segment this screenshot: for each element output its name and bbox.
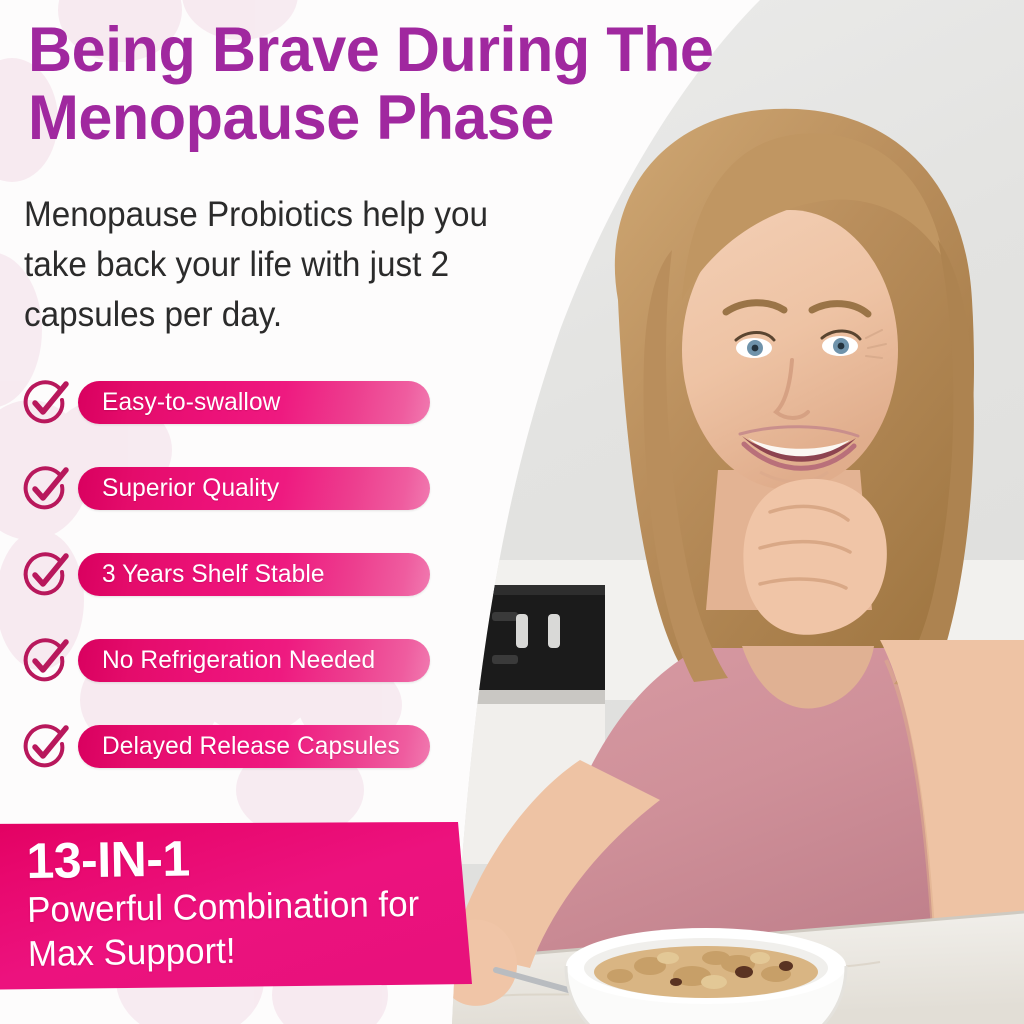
feature-list: Easy-to-swallow Superior Quality 3 xyxy=(0,381,460,811)
list-item[interactable]: Superior Quality xyxy=(0,467,460,553)
feature-pill[interactable]: Superior Quality xyxy=(78,467,430,510)
feature-label: Delayed Release Capsules xyxy=(102,732,400,761)
check-circle-icon xyxy=(20,551,72,601)
feature-pill[interactable]: 3 Years Shelf Stable xyxy=(78,553,430,596)
infographic-canvas: Being Brave During The Menopause Phase M… xyxy=(0,0,1024,1024)
page-title: Being Brave During The Menopause Phase xyxy=(28,16,804,152)
feature-label: 3 Years Shelf Stable xyxy=(102,560,325,589)
feature-pill[interactable]: Delayed Release Capsules xyxy=(78,725,430,768)
feature-pill[interactable]: Easy-to-swallow xyxy=(78,381,430,424)
feature-label: Superior Quality xyxy=(102,474,279,503)
list-item[interactable]: Easy-to-swallow xyxy=(0,381,460,467)
list-item[interactable]: No Refrigeration Needed xyxy=(0,639,460,725)
banner-headline: 13-IN-1 xyxy=(26,827,457,888)
feature-label: No Refrigeration Needed xyxy=(102,646,375,675)
list-item[interactable]: 3 Years Shelf Stable xyxy=(0,553,460,639)
list-item[interactable]: Delayed Release Capsules xyxy=(0,725,460,811)
banner-subtext: Powerful Combination for Max Support! xyxy=(27,881,445,976)
check-circle-icon xyxy=(20,379,72,429)
feature-pill[interactable]: No Refrigeration Needed xyxy=(78,639,430,682)
promo-banner: 13-IN-1 Powerful Combination for Max Sup… xyxy=(0,812,520,1012)
check-circle-icon xyxy=(20,723,72,773)
feature-label: Easy-to-swallow xyxy=(102,388,280,417)
check-circle-icon xyxy=(20,465,72,515)
check-circle-icon xyxy=(20,637,72,687)
subheading-text: Menopause Probiotics help you take back … xyxy=(24,190,537,340)
